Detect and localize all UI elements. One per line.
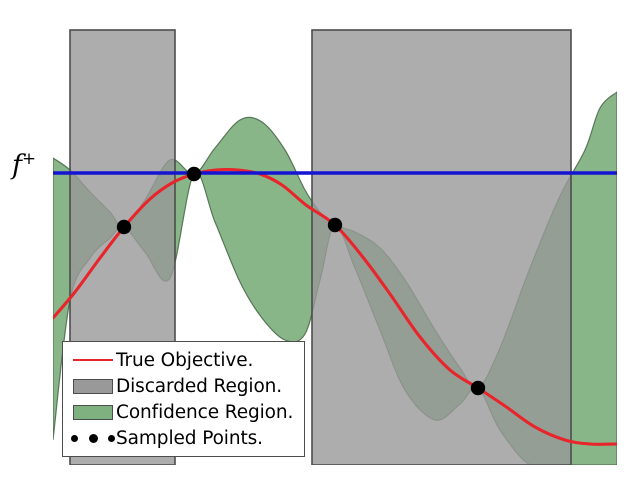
legend-key-green-patch xyxy=(70,405,116,420)
legend-label-true-objective: True Objective. xyxy=(116,350,253,371)
sampled-point-marker xyxy=(117,220,131,234)
legend-label-discarded-region: Discarded Region. xyxy=(116,376,282,397)
legend-item-true-objective: True Objective. xyxy=(70,347,296,373)
axis-label-superscript: + xyxy=(22,148,36,168)
discarded-region-span xyxy=(312,30,571,465)
legend-item-discarded-region: Discarded Region. xyxy=(70,373,296,399)
sampled-point-marker xyxy=(471,381,485,395)
gray-patch-swatch-icon xyxy=(73,379,113,394)
green-patch-swatch-icon xyxy=(73,405,113,420)
legend-key-dots xyxy=(70,434,116,443)
legend-key-gray-patch xyxy=(70,379,116,394)
sampled-point-marker xyxy=(187,167,201,181)
black-dots-swatch-icon xyxy=(71,434,115,443)
legend-key-line xyxy=(70,359,116,361)
legend-label-confidence-region: Confidence Region. xyxy=(116,402,293,423)
legend-box: True Objective. Discarded Region. Confid… xyxy=(62,341,305,457)
legend-item-confidence-region: Confidence Region. xyxy=(70,399,296,425)
sampled-point-marker xyxy=(328,218,342,232)
dot-icon xyxy=(108,435,115,442)
red-line-swatch-icon xyxy=(73,359,113,361)
axis-label-f: f xyxy=(12,150,22,181)
legend-label-sampled-points: Sampled Points. xyxy=(116,428,263,449)
legend-item-sampled-points: Sampled Points. xyxy=(70,425,296,451)
figure-canvas: f+ True Objective. Discarded Region. Con… xyxy=(0,0,642,484)
axis-label-f-plus: f+ xyxy=(12,150,36,179)
dot-icon xyxy=(89,434,98,443)
dot-icon xyxy=(71,435,78,442)
